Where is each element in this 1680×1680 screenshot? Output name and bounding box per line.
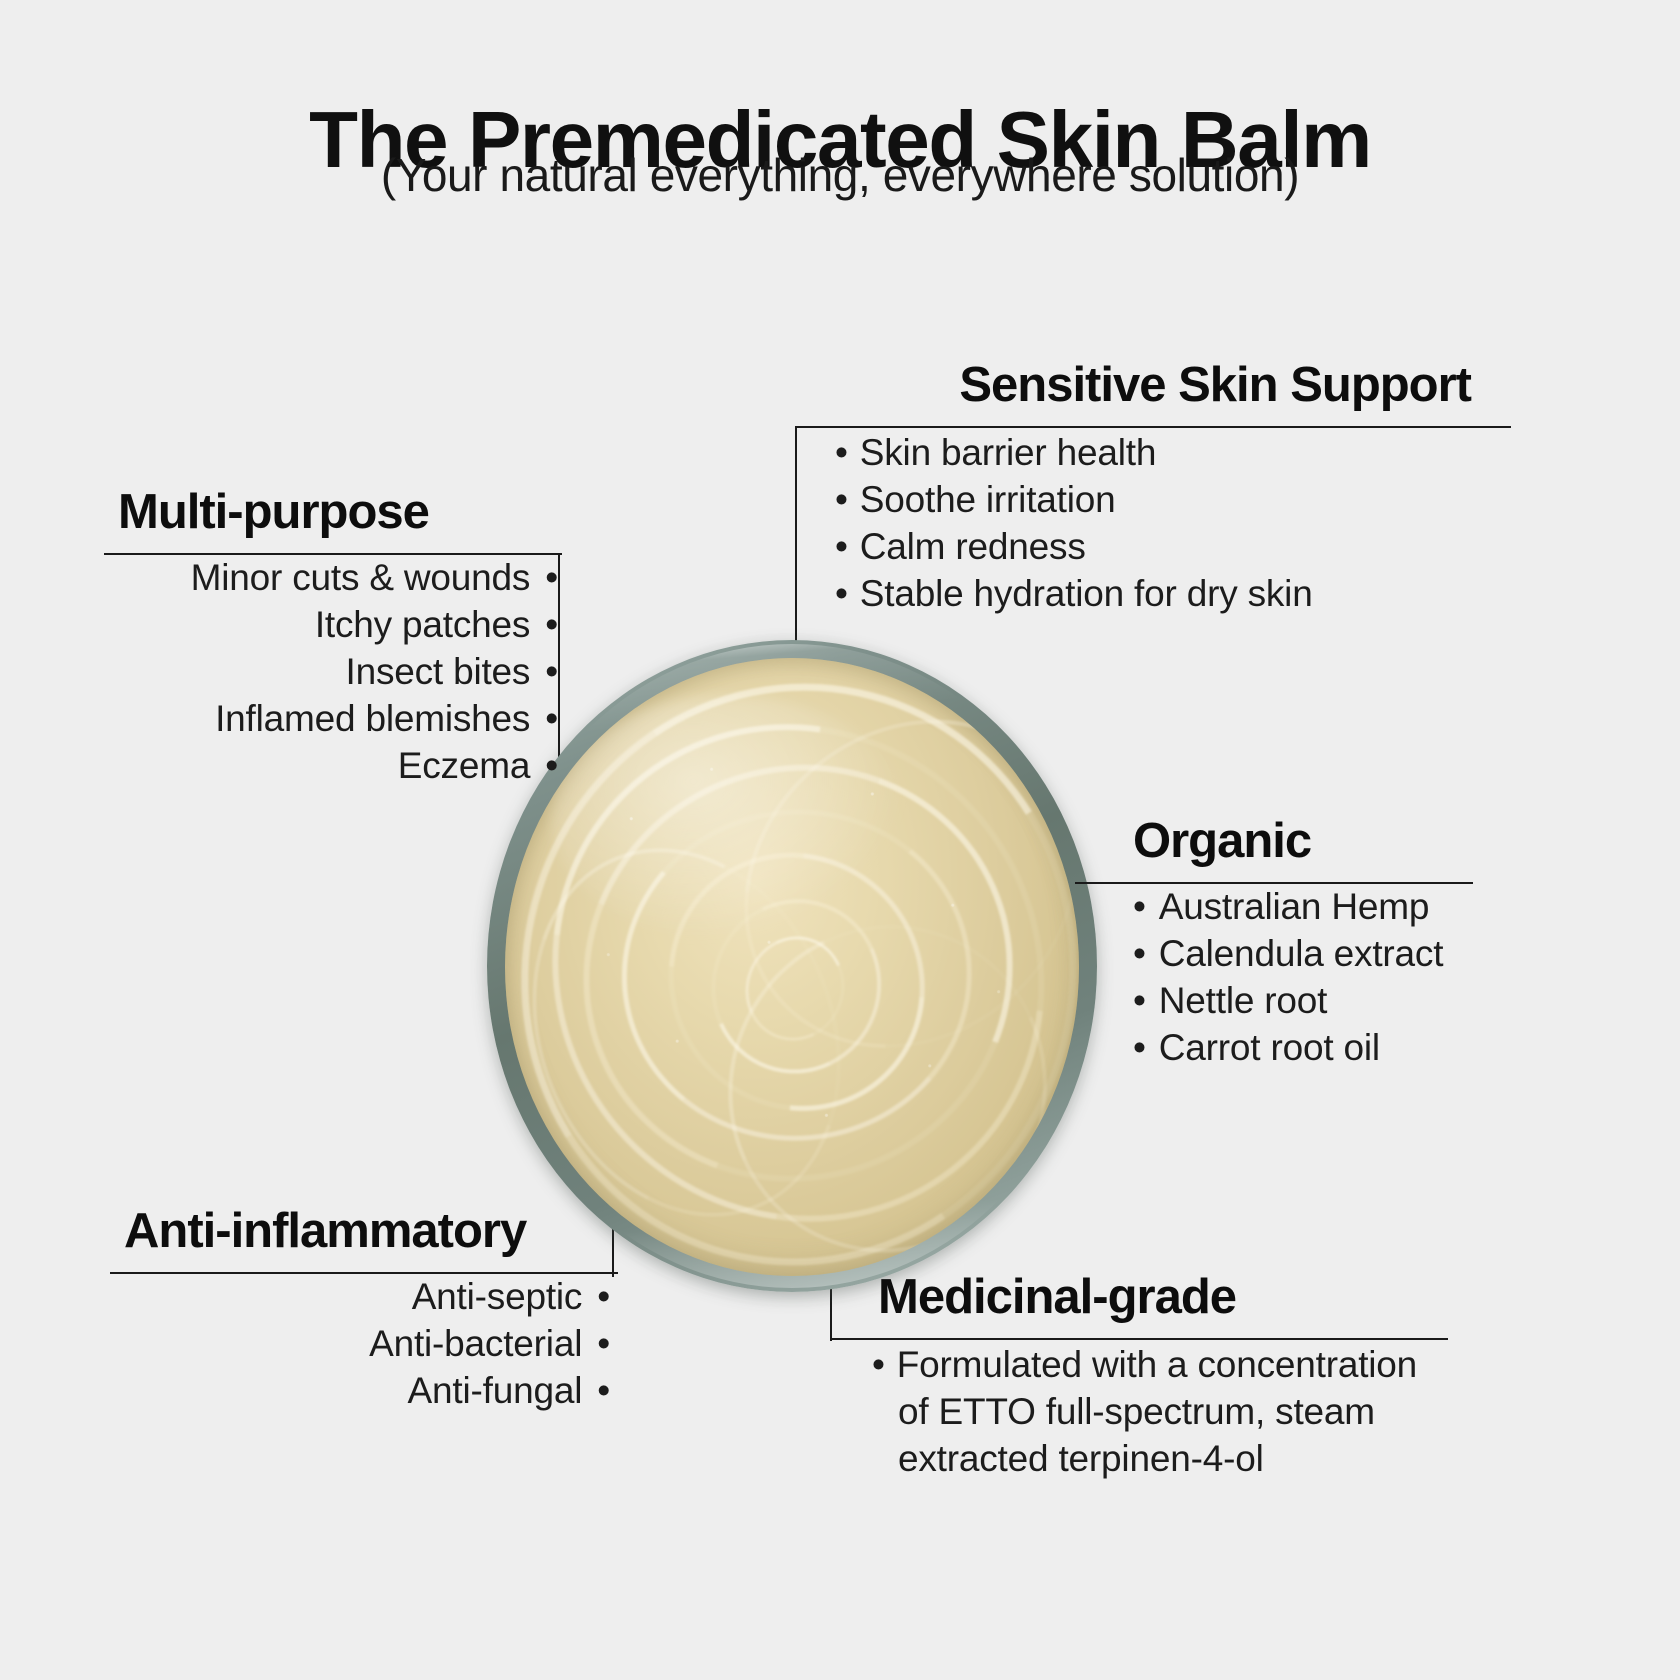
list-item: Nettle root bbox=[1133, 978, 1475, 1025]
list-item: Minor cuts & wounds bbox=[104, 555, 558, 602]
callout-heading-organic: Organic bbox=[1075, 816, 1475, 868]
list-item: Soothe irritation bbox=[831, 477, 1515, 524]
list-item: Eczema bbox=[104, 743, 558, 790]
callout-heading-anti-inflammatory: Anti-inflammatory bbox=[110, 1206, 620, 1258]
list-item: Australian Hemp bbox=[1133, 884, 1475, 931]
skin-balm-tin-image bbox=[487, 632, 1097, 1300]
callout-rule-organic bbox=[1075, 882, 1473, 884]
callout-sensitive-skin-support: Sensitive Skin Support Skin barrier heal… bbox=[795, 360, 1515, 618]
balm-surface bbox=[505, 658, 1079, 1276]
list-item: Stable hydration for dry skin bbox=[831, 571, 1515, 618]
list-item: Anti-septic bbox=[110, 1274, 610, 1321]
callout-list-medicinal-grade: Formulated with a concentration of ETTO … bbox=[830, 1342, 1450, 1483]
list-item: Insect bites bbox=[104, 649, 558, 696]
callout-multi-purpose: Multi-purpose Minor cuts & wounds Itchy … bbox=[104, 487, 564, 790]
callout-heading-sensitive: Sensitive Skin Support bbox=[795, 360, 1515, 412]
callout-medicinal-grade: Medicinal-grade Formulated with a concen… bbox=[830, 1272, 1450, 1483]
callout-rule-multi-purpose bbox=[104, 553, 562, 555]
page-subtitle: (Your natural everything, everywhere sol… bbox=[0, 150, 1680, 201]
list-item: Anti-bacterial bbox=[110, 1321, 610, 1368]
list-item: Calm redness bbox=[831, 524, 1515, 571]
callout-list-organic: Australian Hemp Calendula extract Nettle… bbox=[1075, 884, 1475, 1072]
callout-rule-anti-inflammatory bbox=[110, 1272, 618, 1274]
balm-gloss-highlight bbox=[551, 695, 907, 942]
callout-list-multi-purpose: Minor cuts & wounds Itchy patches Insect… bbox=[104, 555, 564, 790]
callout-rule-medicinal-grade bbox=[830, 1338, 1448, 1340]
list-item: Calendula extract bbox=[1133, 931, 1475, 978]
callout-heading-multi-purpose: Multi-purpose bbox=[104, 487, 564, 539]
callout-rule-sensitive bbox=[795, 426, 1511, 428]
callout-organic: Organic Australian Hemp Calendula extrac… bbox=[1075, 816, 1475, 1072]
list-item: Skin barrier health bbox=[831, 430, 1515, 477]
list-item: Itchy patches bbox=[104, 602, 558, 649]
list-item: Anti-fungal bbox=[110, 1368, 610, 1415]
list-item: Formulated with a concentration of ETTO … bbox=[872, 1342, 1450, 1483]
callout-heading-medicinal-grade: Medicinal-grade bbox=[830, 1272, 1450, 1324]
callout-list-sensitive: Skin barrier health Soothe irritation Ca… bbox=[795, 430, 1515, 618]
list-item: Carrot root oil bbox=[1133, 1025, 1475, 1072]
infographic-canvas: The Premedicated Skin Balm (Your natural… bbox=[0, 0, 1680, 1680]
callout-anti-inflammatory: Anti-inflammatory Anti-septic Anti-bacte… bbox=[110, 1206, 620, 1415]
list-item: Inflamed blemishes bbox=[104, 696, 558, 743]
callout-list-anti-inflammatory: Anti-septic Anti-bacterial Anti-fungal bbox=[110, 1274, 620, 1415]
